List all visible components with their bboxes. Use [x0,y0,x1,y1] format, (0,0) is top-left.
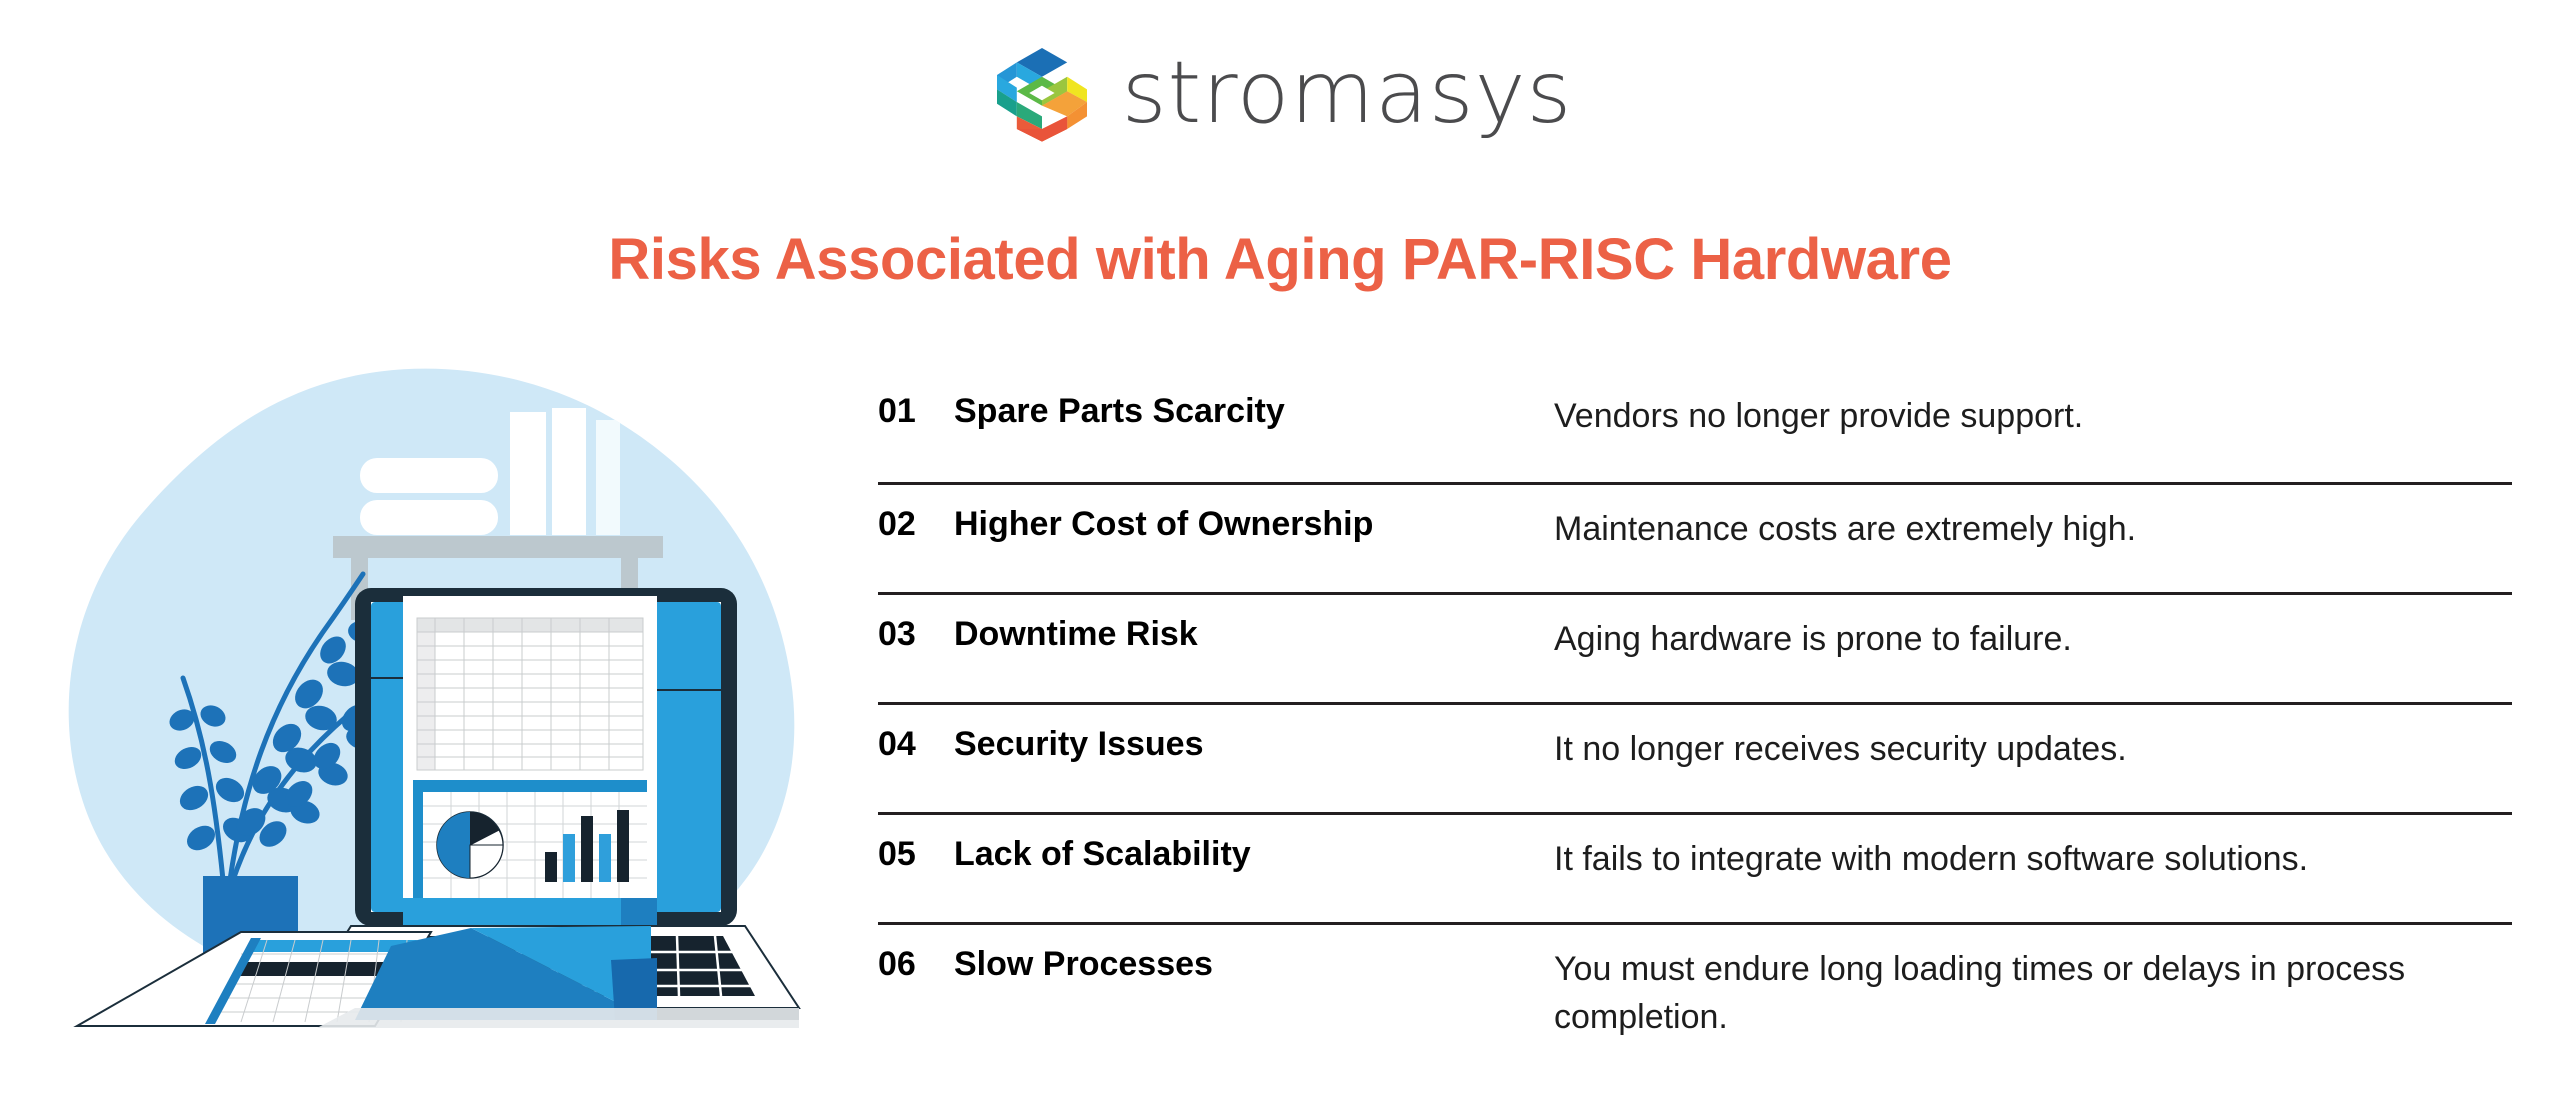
table-row: 01 Spare Parts Scarcity Vendors no longe… [878,372,2512,482]
risk-number: 03 [878,613,954,654]
risk-label: Higher Cost of Ownership [954,503,1554,544]
infographic-page: stromasys Risks Associated with Aging PA… [0,0,2560,1117]
risk-table: 01 Spare Parts Scarcity Vendors no longe… [878,372,2512,1042]
workspace-laptop-illustration [55,360,865,1060]
table-row: 03 Downtime Risk Aging hardware is prone… [878,592,2512,702]
stromasys-logo-icon [988,39,1096,147]
brand-header: stromasys [0,38,2560,148]
risk-label: Slow Processes [954,943,1554,984]
risk-description: You must endure long loading times or de… [1554,943,2512,1042]
risk-description: It no longer receives security updates. [1554,723,2512,773]
pie-chart [437,812,503,878]
risk-label: Spare Parts Scarcity [954,390,1554,431]
risk-description: Maintenance costs are extremely high. [1554,503,2512,553]
risk-description: It fails to integrate with modern softwa… [1554,833,2512,883]
table-row: 05 Lack of Scalability It fails to integ… [878,812,2512,922]
risk-number: 02 [878,503,954,544]
risk-label: Security Issues [954,723,1554,764]
page-title: Risks Associated with Aging PAR-RISC Har… [0,226,2560,293]
table-row: 04 Security Issues It no longer receives… [878,702,2512,812]
risk-description: Aging hardware is prone to failure. [1554,613,2512,663]
risk-description: Vendors no longer provide support. [1554,390,2512,440]
risk-number: 06 [878,943,954,984]
document-sheet [403,596,657,949]
stromasys-wordmark: stromasys [1122,50,1573,136]
risk-number: 01 [878,390,954,431]
chart-panel [413,780,647,898]
risk-number: 05 [878,833,954,874]
risk-label: Downtime Risk [954,613,1554,654]
spreadsheet-grid [417,618,643,770]
table-row: 06 Slow Processes You must endure long l… [878,922,2512,1042]
risk-label: Lack of Scalability [954,833,1554,874]
table-row: 02 Higher Cost of Ownership Maintenance … [878,482,2512,592]
risk-number: 04 [878,723,954,764]
